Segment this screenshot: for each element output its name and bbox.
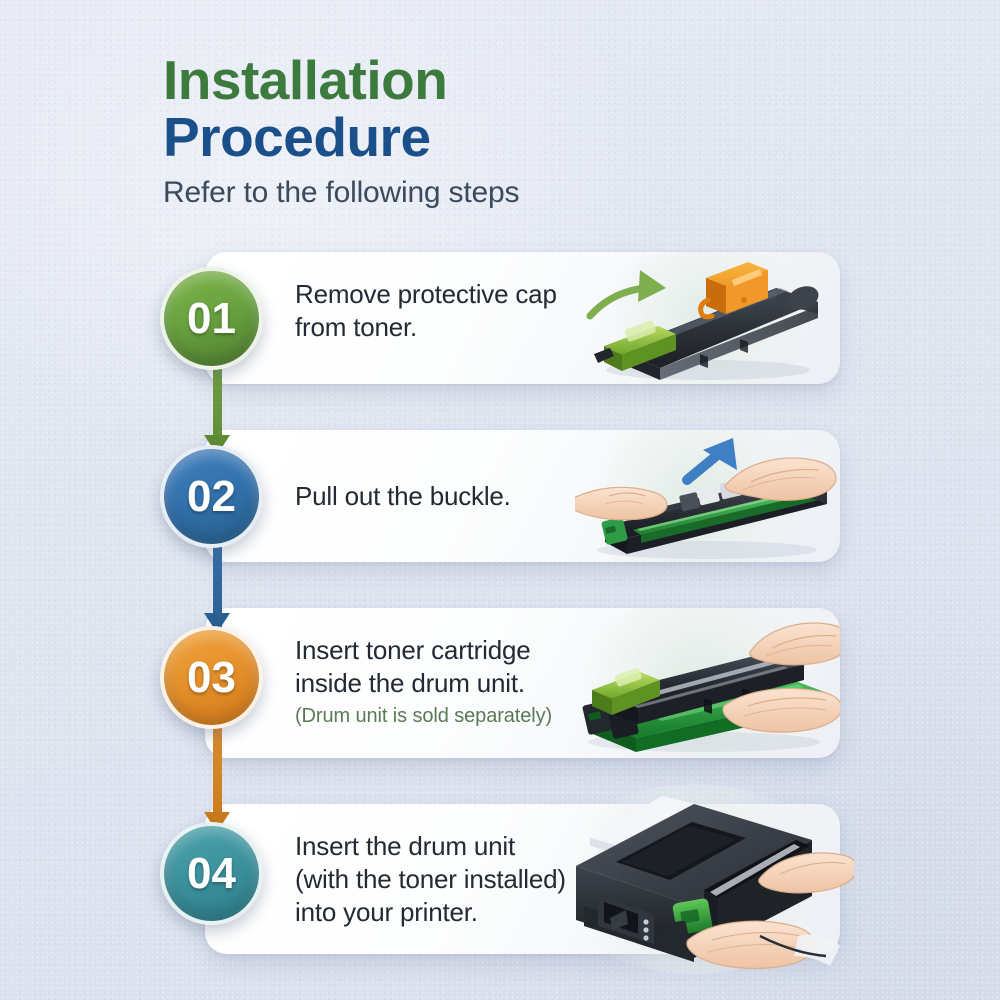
- page-title-line-1: Installation: [163, 52, 519, 109]
- step-item-03: Insert toner cartridge inside the drum u…: [205, 608, 840, 758]
- step-line: from toner.: [295, 311, 840, 344]
- step-line: (with the toner installed): [295, 863, 840, 896]
- step-line: into your printer.: [295, 896, 840, 929]
- step-number: 01: [187, 294, 236, 344]
- step-card-02: Pull out the buckle.: [205, 430, 840, 562]
- step-note: (Drum unit is sold separately): [295, 705, 840, 728]
- step-number: 03: [187, 653, 236, 703]
- step-line: inside the drum unit.: [295, 667, 840, 700]
- step-item-04: Insert the drum unit (with the toner ins…: [205, 804, 840, 954]
- step-number: 02: [187, 472, 236, 522]
- step-number: 04: [187, 849, 236, 899]
- step-text-02: Pull out the buckle.: [205, 430, 840, 539]
- step-badge-02: 02: [160, 445, 263, 548]
- step-text-01: Remove protective cap from toner.: [205, 252, 840, 370]
- step-card-03: Insert toner cartridge inside the drum u…: [205, 608, 840, 758]
- step-text-03: Insert toner cartridge inside the drum u…: [205, 608, 840, 754]
- step-line: Insert the drum unit: [295, 830, 840, 863]
- step-badge-01: 01: [160, 267, 263, 370]
- page-header: Installation Procedure Refer to the foll…: [163, 52, 519, 210]
- step-badge-04: 04: [160, 822, 263, 925]
- infographic-page: Installation Procedure Refer to the foll…: [0, 0, 1000, 1000]
- page-title-line-2: Procedure: [163, 109, 519, 166]
- step-item-01: Remove protective cap from toner. 01: [205, 252, 840, 384]
- step-line: Remove protective cap: [295, 278, 840, 311]
- step-badge-03: 03: [160, 626, 263, 729]
- step-item-02: Pull out the buckle. 02: [205, 430, 840, 562]
- step-card-04: Insert the drum unit (with the toner ins…: [205, 804, 840, 954]
- step-line: Pull out the buckle.: [295, 480, 840, 513]
- step-line: Insert toner cartridge: [295, 634, 840, 667]
- page-subtitle: Refer to the following steps: [163, 176, 519, 210]
- step-card-01: Remove protective cap from toner.: [205, 252, 840, 384]
- step-text-04: Insert the drum unit (with the toner ins…: [205, 804, 840, 955]
